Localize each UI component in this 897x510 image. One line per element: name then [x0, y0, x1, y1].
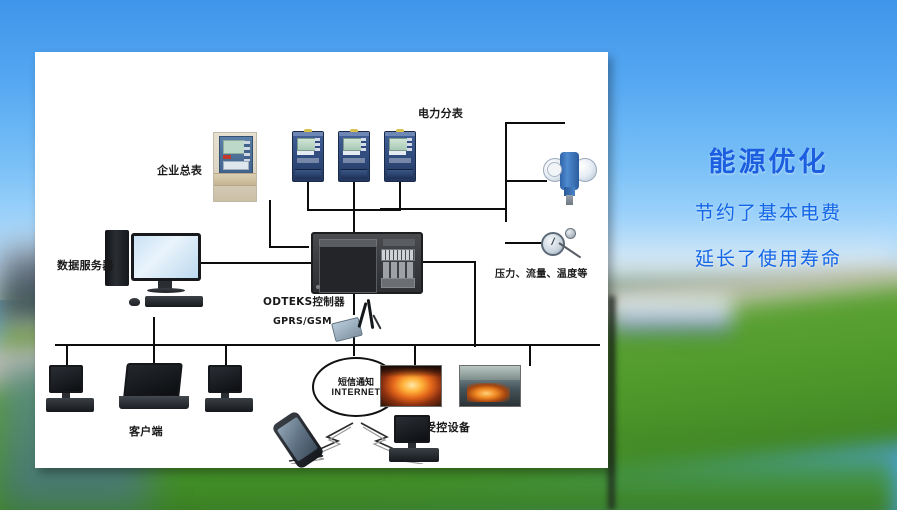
meter-terminal-cover [341, 169, 367, 179]
client-desktop-1-monitor [49, 365, 83, 393]
controller-terminal-block [381, 249, 415, 261]
power-submeter-icon-2 [338, 131, 370, 182]
wire-equipment-1-drop [414, 344, 416, 366]
meter-terminal-cover [295, 169, 321, 179]
meter-display [297, 138, 316, 151]
remote-desktop-monitor [394, 415, 430, 443]
pressure-transmitter-icon [543, 152, 595, 206]
enterprise-meter-icon [213, 132, 257, 202]
wire-enterprise-meter-drop [269, 200, 271, 247]
modem-antenna-1 [357, 302, 367, 328]
enterprise-meter-label: 企业总表 [157, 162, 202, 178]
meter-display [343, 138, 362, 151]
wire-equipment-2-drop [529, 344, 531, 366]
meter-bar [297, 151, 314, 155]
wire-to-gauge [505, 242, 543, 244]
meter-top-rail [385, 132, 415, 136]
meter-terminal-cover [387, 169, 413, 179]
client-laptop-lid [123, 363, 183, 397]
remote-desktop-body [389, 448, 439, 462]
odteks-controller-icon[interactable] [311, 232, 423, 294]
meter-bar [389, 151, 406, 155]
wire-submeter-2-drop [353, 180, 355, 210]
controller-display [319, 246, 377, 293]
meter-face [219, 136, 253, 174]
background-vehicle [612, 296, 732, 332]
gprs-gsm-label: GPRS/GSM [273, 316, 332, 327]
transmitter-body [560, 152, 579, 190]
meter-keys [315, 138, 320, 153]
wire-submeter-3-drop [399, 180, 401, 210]
meter-nameplate [223, 161, 249, 170]
server-monitor-icon [131, 233, 201, 281]
meter-buttons [244, 141, 250, 161]
server-monitor-screen [134, 236, 198, 278]
meter-bar [343, 151, 360, 155]
wire-sensor-riser [505, 122, 507, 222]
meter-keys [361, 138, 366, 153]
meter-indicator [223, 155, 231, 159]
server-monitor-base [147, 288, 185, 293]
wire-controller-right [418, 261, 476, 263]
wire-submeter-bus-to-controller [353, 209, 355, 233]
wire-client-equipment-bus [55, 344, 600, 346]
controlled-equipment-photo-2 [459, 365, 521, 407]
sensors-label: 压力、流量、温度等 [495, 265, 588, 280]
controlled-equipment-photo-1 [380, 365, 442, 407]
meter-mounting-shelf [214, 173, 256, 186]
meter-keys [407, 138, 412, 153]
gauge-needle [551, 237, 555, 245]
meter-label-strip [389, 158, 411, 163]
power-submeter-icon-3 [384, 131, 416, 182]
meter-top-rail [339, 132, 369, 136]
meter-display [223, 140, 245, 154]
marketing-benefit-1: 节约了基本电费 [640, 198, 897, 225]
cloud-line-1: 短信通知 [338, 377, 374, 387]
server-keyboard-icon [145, 296, 203, 307]
controller-screw [316, 285, 320, 289]
marketing-benefit-2: 延长了使用寿命 [640, 244, 897, 271]
wire-client-2-drop [153, 344, 155, 364]
power-submeter-icon-1 [292, 131, 324, 182]
client-label: 客户端 [129, 423, 163, 439]
power-submeter-label: 电力分表 [418, 105, 463, 121]
wire-sensor-top [505, 122, 565, 124]
system-architecture-diagram-panel: 企业总表 电力分表 压力、流 [35, 52, 608, 468]
wire-submeter-1-drop [307, 180, 309, 210]
controller-label-strip [383, 239, 415, 246]
wire-client-3-drop [225, 344, 227, 366]
wire-to-transmitter [505, 180, 547, 182]
temperature-probe-head [565, 228, 576, 239]
client-desktop-2-monitor [208, 365, 242, 393]
meter-top-rail [293, 132, 323, 136]
wire-sensor-bus-left [380, 208, 506, 210]
controller-bottom-buttons[interactable] [381, 278, 415, 288]
wire-client-1-drop [66, 344, 68, 366]
wire-server-drop [153, 317, 155, 345]
data-server-label: 数据服务器 [57, 257, 114, 273]
marketing-title: 能源优化 [640, 140, 897, 179]
client-laptop-base [119, 396, 189, 409]
meter-label-strip [297, 158, 319, 163]
wire-enterprise-meter-to-controller [269, 246, 309, 248]
meter-display [389, 138, 408, 151]
client-desktop-2-body [205, 398, 253, 412]
background-pole [608, 296, 615, 510]
diagram-canvas: 企业总表 电力分表 压力、流 [35, 52, 608, 468]
controller-label: ODTEKS控制器 [263, 294, 345, 309]
cloud-line-2: INTERNET [332, 387, 381, 397]
wire-controller-to-equipment-bus [474, 261, 476, 347]
meter-label-strip [343, 158, 365, 163]
client-desktop-1-body [46, 398, 94, 412]
marketing-text-block: 能源优化 节约了基本电费 延长了使用寿命 [640, 140, 897, 271]
transmitter-dial [547, 162, 562, 177]
transmitter-process-connection [566, 195, 573, 205]
server-mouse-icon [129, 298, 140, 306]
